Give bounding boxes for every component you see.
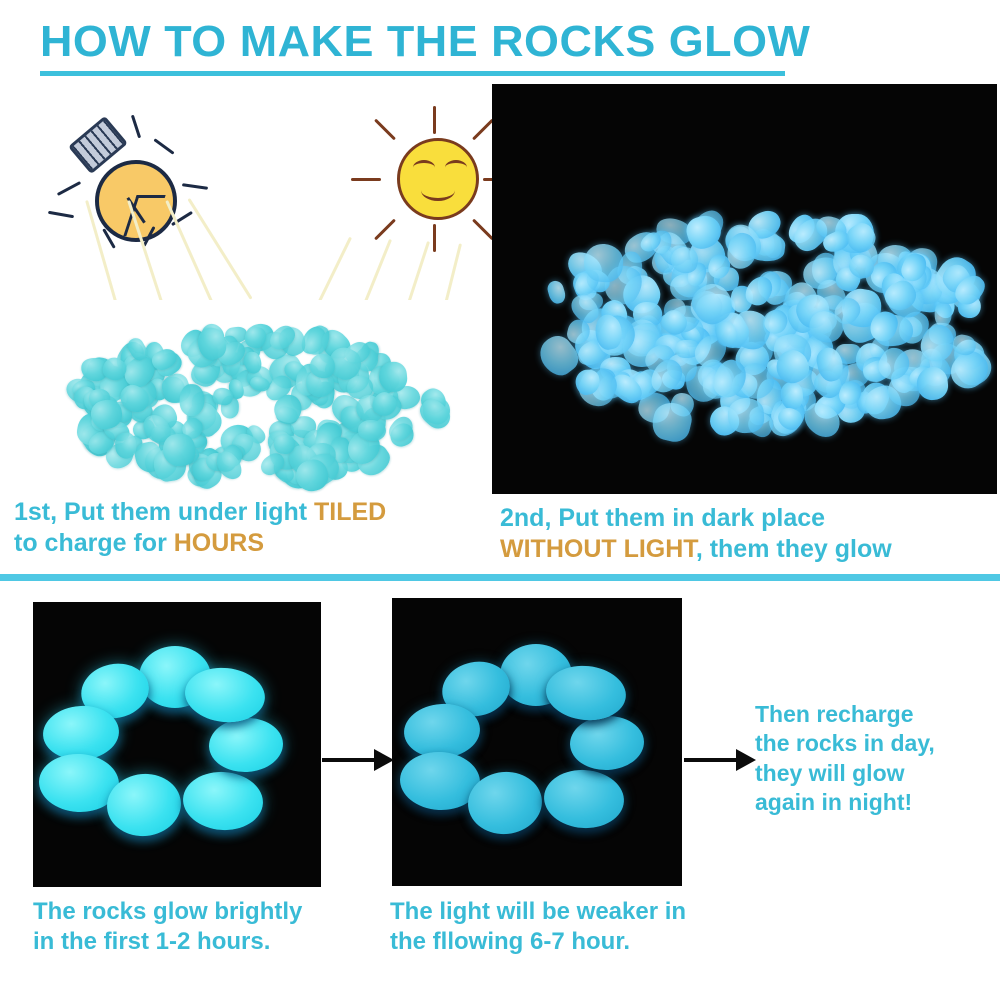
bulb-ray xyxy=(131,115,141,139)
step5-caption-line4: again in night! xyxy=(755,789,912,815)
sun-eye-left xyxy=(413,160,435,175)
pebble xyxy=(180,385,205,417)
arrow-shaft xyxy=(322,758,376,762)
sun-ray xyxy=(472,119,494,141)
glow-stone xyxy=(208,716,285,774)
step4-caption-line1: The light will be weaker in xyxy=(390,898,686,925)
infographic-page: HOW TO MAKE THE ROCKS GLOW xyxy=(0,0,1000,1000)
step2-caption-line2-post: , them they glow xyxy=(696,535,892,563)
sun-ray xyxy=(433,106,436,134)
step3-caption-line1: The rocks glow brightly xyxy=(33,898,302,925)
sun-disc xyxy=(397,138,479,220)
page-title: HOW TO MAKE THE ROCKS GLOW xyxy=(40,20,825,64)
step1-caption-highlight-tiled: TILED xyxy=(314,498,386,526)
step2-caption-line1: 2nd, Put them in dark place xyxy=(500,504,825,532)
sun-mouth xyxy=(421,180,455,201)
section-divider xyxy=(0,574,1000,581)
sun-eye-right xyxy=(445,160,467,175)
pebble xyxy=(583,242,624,283)
step5-caption: Then recharge the rocks in day, they wil… xyxy=(755,700,995,818)
step5-caption-line2: the rocks in day, xyxy=(755,730,935,756)
sun-ray xyxy=(374,119,396,141)
bulb-ray xyxy=(48,211,74,218)
pebble xyxy=(358,420,387,442)
lightbulb-icon xyxy=(40,105,230,320)
sun-ray xyxy=(433,224,436,252)
pebble xyxy=(545,279,567,305)
bulb-ray xyxy=(57,181,81,196)
pebble xyxy=(726,396,765,434)
step4-caption-line2: the fllowing 6-7 hour. xyxy=(390,928,630,955)
sun-ray xyxy=(374,219,396,241)
step1-caption-highlight-hours: HOURS xyxy=(174,529,264,557)
sun-ray xyxy=(472,219,494,241)
glowing-pebbles-dark-photo xyxy=(492,84,997,494)
step2-caption: 2nd, Put them in dark place WITHOUT LIGH… xyxy=(500,503,995,566)
arrow-step4-to-step5-icon xyxy=(684,749,756,771)
arrow-shaft xyxy=(684,758,738,762)
pebble xyxy=(934,302,953,328)
bulb-ray xyxy=(182,183,208,190)
arrow-head xyxy=(736,749,756,771)
sun-ray xyxy=(351,178,381,181)
step5-caption-line1: Then recharge xyxy=(755,701,914,727)
pebbles-under-light-photo xyxy=(35,300,455,495)
glow-stone xyxy=(542,767,626,830)
step1-caption-line1-pre: 1st, Put them under light xyxy=(14,498,314,526)
step1-caption: 1st, Put them under light TILED to charg… xyxy=(14,497,484,560)
bulb-ray xyxy=(153,138,174,155)
title-underline xyxy=(40,71,785,76)
glow-stone xyxy=(569,714,646,772)
step4-caption: The light will be weaker in the fllowing… xyxy=(390,897,750,957)
step3-caption-line2: in the first 1-2 hours. xyxy=(33,928,270,955)
bulb-filament xyxy=(106,165,130,195)
page-title-block: HOW TO MAKE THE ROCKS GLOW xyxy=(40,20,810,76)
step3-caption: The rocks glow brightly in the first 1-2… xyxy=(33,897,383,957)
glow-stone xyxy=(181,769,265,832)
bright-glow-ring-photo xyxy=(33,602,321,887)
arrow-head xyxy=(374,749,394,771)
dim-glow-ring-photo xyxy=(392,598,682,886)
arrow-step3-to-step4-icon xyxy=(322,749,394,771)
step2-caption-highlight-without-light: WITHOUT LIGHT xyxy=(500,535,696,563)
step5-caption-line3: they will glow xyxy=(755,760,905,786)
step1-caption-line2-pre: to charge for xyxy=(14,529,174,557)
